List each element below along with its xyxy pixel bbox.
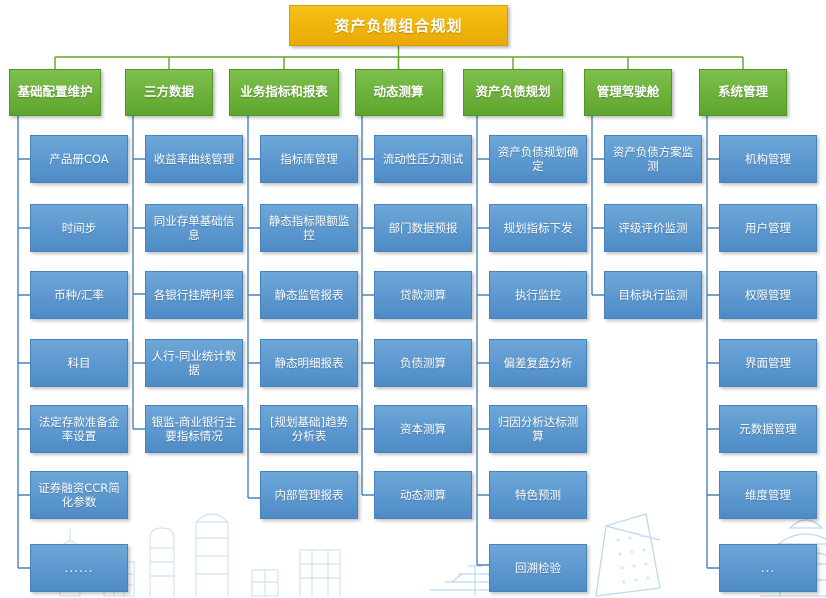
- menu-item-label: 回溯检验: [515, 561, 561, 575]
- menu-item-label: 时间步: [62, 221, 97, 235]
- menu-item[interactable]: 静态明细报表: [260, 339, 358, 387]
- menu-item[interactable]: 权限管理: [719, 271, 817, 319]
- menu-item[interactable]: 资本测算: [374, 405, 472, 453]
- category-header-label: 基础配置维护: [17, 85, 92, 99]
- menu-item-label: 维度管理: [745, 488, 791, 502]
- menu-item[interactable]: 指标库管理: [260, 135, 358, 183]
- menu-item-label: 特色预测: [515, 488, 561, 502]
- menu-item-label: 内部管理报表: [275, 488, 344, 502]
- menu-item[interactable]: 规划指标下发: [489, 204, 587, 252]
- menu-item[interactable]: 归因分析达标测算: [489, 405, 587, 453]
- menu-item[interactable]: 科目: [30, 339, 128, 387]
- menu-item[interactable]: 偏差复盘分析: [489, 339, 587, 387]
- menu-item-label: 静态明细报表: [275, 356, 344, 370]
- menu-item-label: 收益率曲线管理: [154, 152, 235, 166]
- menu-item[interactable]: 特色预测: [489, 471, 587, 519]
- menu-item-label: 流动性压力测试: [383, 152, 464, 166]
- menu-item-label: [规划基础]趋势分析表: [265, 415, 353, 443]
- menu-item-label: 评级评价监测: [619, 221, 688, 235]
- menu-item-label: 人行-同业统计数据: [150, 349, 238, 377]
- menu-item-label: 资产负债方案监测: [609, 145, 697, 173]
- menu-item[interactable]: 部门数据预报: [374, 204, 472, 252]
- menu-item[interactable]: 维度管理: [719, 471, 817, 519]
- menu-item-label: 动态测算: [400, 488, 446, 502]
- menu-item[interactable]: 评级评价监测: [604, 204, 702, 252]
- menu-item-label: 元数据管理: [739, 422, 797, 436]
- menu-item[interactable]: [规划基础]趋势分析表: [260, 405, 358, 453]
- menu-item-label: 贷款测算: [400, 288, 446, 302]
- menu-item[interactable]: 静态指标限额监控: [260, 204, 358, 252]
- menu-item[interactable]: 元数据管理: [719, 405, 817, 453]
- menu-item[interactable]: 静态监管报表: [260, 271, 358, 319]
- menu-item-label: 权限管理: [745, 288, 791, 302]
- category-header-label: 动态测算: [373, 85, 423, 99]
- menu-item[interactable]: 回溯检验: [489, 544, 587, 592]
- root-node-label: 资产负债组合规划: [334, 15, 462, 36]
- menu-item-label: 科目: [68, 356, 91, 370]
- menu-item-label: 负债测算: [400, 356, 446, 370]
- menu-item[interactable]: 同业存单基础信息: [145, 204, 243, 252]
- category-header-5[interactable]: 资产负债规划: [463, 69, 563, 116]
- menu-item[interactable]: 各银行挂牌利率: [145, 271, 243, 319]
- menu-item[interactable]: 银监-商业银行主要指标情况: [145, 405, 243, 453]
- category-header-1[interactable]: 基础配置维护: [9, 69, 101, 116]
- menu-item[interactable]: 负债测算: [374, 339, 472, 387]
- menu-item-label: 资产负债规划确定: [494, 145, 582, 173]
- menu-item-label: 机构管理: [745, 152, 791, 166]
- category-header-3[interactable]: 业务指标和报表: [229, 69, 339, 116]
- menu-item[interactable]: 用户管理: [719, 204, 817, 252]
- menu-item-label: 执行监控: [515, 288, 561, 302]
- category-header-label: 资产负债规划: [475, 85, 550, 99]
- menu-item[interactable]: 时间步: [30, 204, 128, 252]
- category-header-7[interactable]: 系统管理: [699, 69, 787, 116]
- menu-item-label: 产品册COA: [49, 152, 108, 166]
- menu-item[interactable]: 产品册COA: [30, 135, 128, 183]
- menu-item[interactable]: 资产负债规划确定: [489, 135, 587, 183]
- menu-item-label: 静态监管报表: [275, 288, 344, 302]
- menu-item[interactable]: 内部管理报表: [260, 471, 358, 519]
- menu-item-label: 各银行挂牌利率: [154, 288, 235, 302]
- menu-item[interactable]: 资产负债方案监测: [604, 135, 702, 183]
- menu-item-label: 规划指标下发: [504, 221, 573, 235]
- menu-item-label: 归因分析达标测算: [494, 415, 582, 443]
- menu-item[interactable]: 贷款测算: [374, 271, 472, 319]
- menu-item-label: 证券融资CCR简化参数: [35, 481, 123, 509]
- menu-item-label: 偏差复盘分析: [504, 356, 573, 370]
- menu-item[interactable]: 机构管理: [719, 135, 817, 183]
- menu-item[interactable]: 目标执行监测: [604, 271, 702, 319]
- menu-item-label: 目标执行监测: [619, 288, 688, 302]
- menu-item-label: 部门数据预报: [389, 221, 458, 235]
- category-header-6[interactable]: 管理驾驶舱: [584, 69, 672, 116]
- menu-item-label: 币种/汇率: [54, 288, 104, 302]
- category-header-4[interactable]: 动态测算: [355, 69, 443, 116]
- org-chart: 资产负债组合规划基础配置维护产品册COA时间步币种/汇率科目法定存款准备金率设置…: [0, 0, 826, 598]
- menu-item-label: ...: [761, 561, 775, 576]
- menu-item-label: 同业存单基础信息: [150, 214, 238, 242]
- menu-item-label: 资本测算: [400, 422, 446, 436]
- menu-item[interactable]: 动态测算: [374, 471, 472, 519]
- menu-item-label: 界面管理: [745, 356, 791, 370]
- menu-item[interactable]: 界面管理: [719, 339, 817, 387]
- category-header-2[interactable]: 三方数据: [125, 69, 213, 116]
- menu-item[interactable]: 法定存款准备金率设置: [30, 405, 128, 453]
- menu-item-label: ......: [65, 561, 94, 576]
- menu-item[interactable]: 证券融资CCR简化参数: [30, 471, 128, 519]
- menu-item-label: 银监-商业银行主要指标情况: [150, 415, 238, 443]
- menu-item[interactable]: 收益率曲线管理: [145, 135, 243, 183]
- menu-item-label: 指标库管理: [280, 152, 338, 166]
- category-header-label: 三方数据: [144, 85, 194, 99]
- menu-item-label: 法定存款准备金率设置: [35, 415, 123, 443]
- category-header-label: 系统管理: [718, 85, 768, 99]
- menu-item[interactable]: ...: [719, 544, 817, 592]
- menu-item[interactable]: ......: [30, 544, 128, 592]
- root-node[interactable]: 资产负债组合规划: [289, 5, 508, 46]
- menu-item[interactable]: 执行监控: [489, 271, 587, 319]
- menu-item-label: 静态指标限额监控: [265, 214, 353, 242]
- menu-item[interactable]: 人行-同业统计数据: [145, 339, 243, 387]
- menu-item[interactable]: 流动性压力测试: [374, 135, 472, 183]
- category-header-label: 管理驾驶舱: [597, 85, 660, 99]
- menu-item-label: 用户管理: [745, 221, 791, 235]
- category-header-label: 业务指标和报表: [240, 85, 328, 99]
- menu-item[interactable]: 币种/汇率: [30, 271, 128, 319]
